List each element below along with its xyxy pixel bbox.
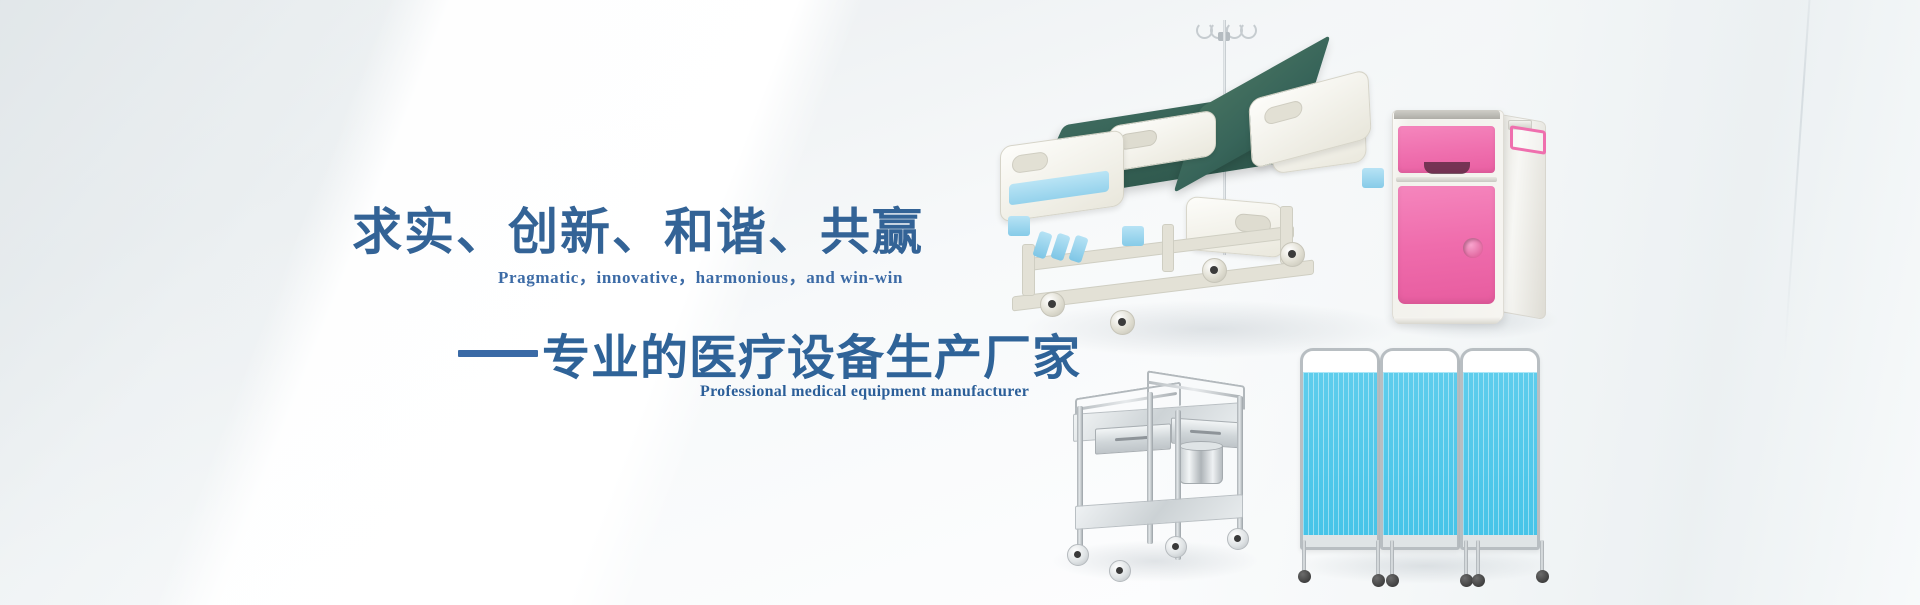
trolley-post — [1077, 406, 1083, 558]
screen-panel — [1460, 348, 1540, 550]
cabinet-drawer — [1398, 126, 1495, 173]
screen-caster-wheel — [1372, 574, 1385, 587]
cabinet-top-surface — [1394, 110, 1500, 119]
screen-caster-wheel — [1536, 570, 1549, 583]
screen-leg — [1390, 540, 1394, 576]
trolley-caster-wheel — [1067, 544, 1089, 566]
screen-panel — [1380, 348, 1460, 550]
hero-banner: 求实、创新、和谐、共赢 Pragmatic，innovative，harmoni… — [0, 0, 1920, 605]
bed-corner-bumper — [1362, 168, 1384, 188]
screen-panel — [1300, 348, 1380, 550]
subheadline-secondary-en: Professional medical equipment manufactu… — [700, 383, 1029, 401]
screen-caster-wheel — [1472, 574, 1485, 587]
bed-caster-wheel — [1110, 310, 1135, 335]
product-image-folding-screen — [1300, 348, 1548, 578]
product-image-hospital-bed — [990, 20, 1410, 360]
bed-caster-wheel — [1202, 258, 1227, 283]
screen-leg — [1376, 540, 1380, 576]
screen-caster-wheel — [1298, 570, 1311, 583]
trolley-caster-wheel — [1227, 528, 1249, 550]
bed-corner-bumper — [1008, 216, 1030, 236]
trolley-caster-wheel — [1165, 536, 1187, 558]
bed-corner-bumper — [1122, 226, 1144, 246]
cabinet-door — [1398, 186, 1495, 304]
bed-caster-wheel — [1040, 292, 1065, 317]
headline-secondary-group: 专业的医疗设备生产厂家 — [458, 318, 1081, 388]
screen-caster-wheel — [1386, 574, 1399, 587]
banner-copy: 求实、创新、和谐、共赢 Pragmatic，innovative，harmoni… — [0, 0, 1060, 605]
bed-caster-wheel — [1280, 242, 1305, 267]
product-image-bedside-cabinet — [1392, 98, 1544, 330]
subheadline-primary-en: Pragmatic，innovative，harmonious，and win-… — [498, 263, 903, 288]
bed-headboard — [1000, 129, 1124, 222]
trolley-post — [1237, 396, 1243, 546]
trolley-drawer — [1095, 423, 1171, 454]
screen-leg — [1476, 540, 1480, 576]
cabinet-divider — [1396, 177, 1497, 182]
trolley-waste-bucket — [1179, 444, 1223, 484]
screen-leg — [1464, 540, 1468, 576]
trolley-bottom-shelf — [1075, 494, 1243, 530]
em-dash-rule — [458, 350, 538, 357]
trolley-caster-wheel — [1109, 560, 1131, 582]
cabinet-base-trim — [1394, 317, 1500, 324]
product-image-medical-trolley — [1055, 378, 1255, 583]
background-wall-edge — [1783, 0, 1814, 360]
headline-primary-cn: 求实、创新、和谐、共赢 — [352, 192, 924, 264]
